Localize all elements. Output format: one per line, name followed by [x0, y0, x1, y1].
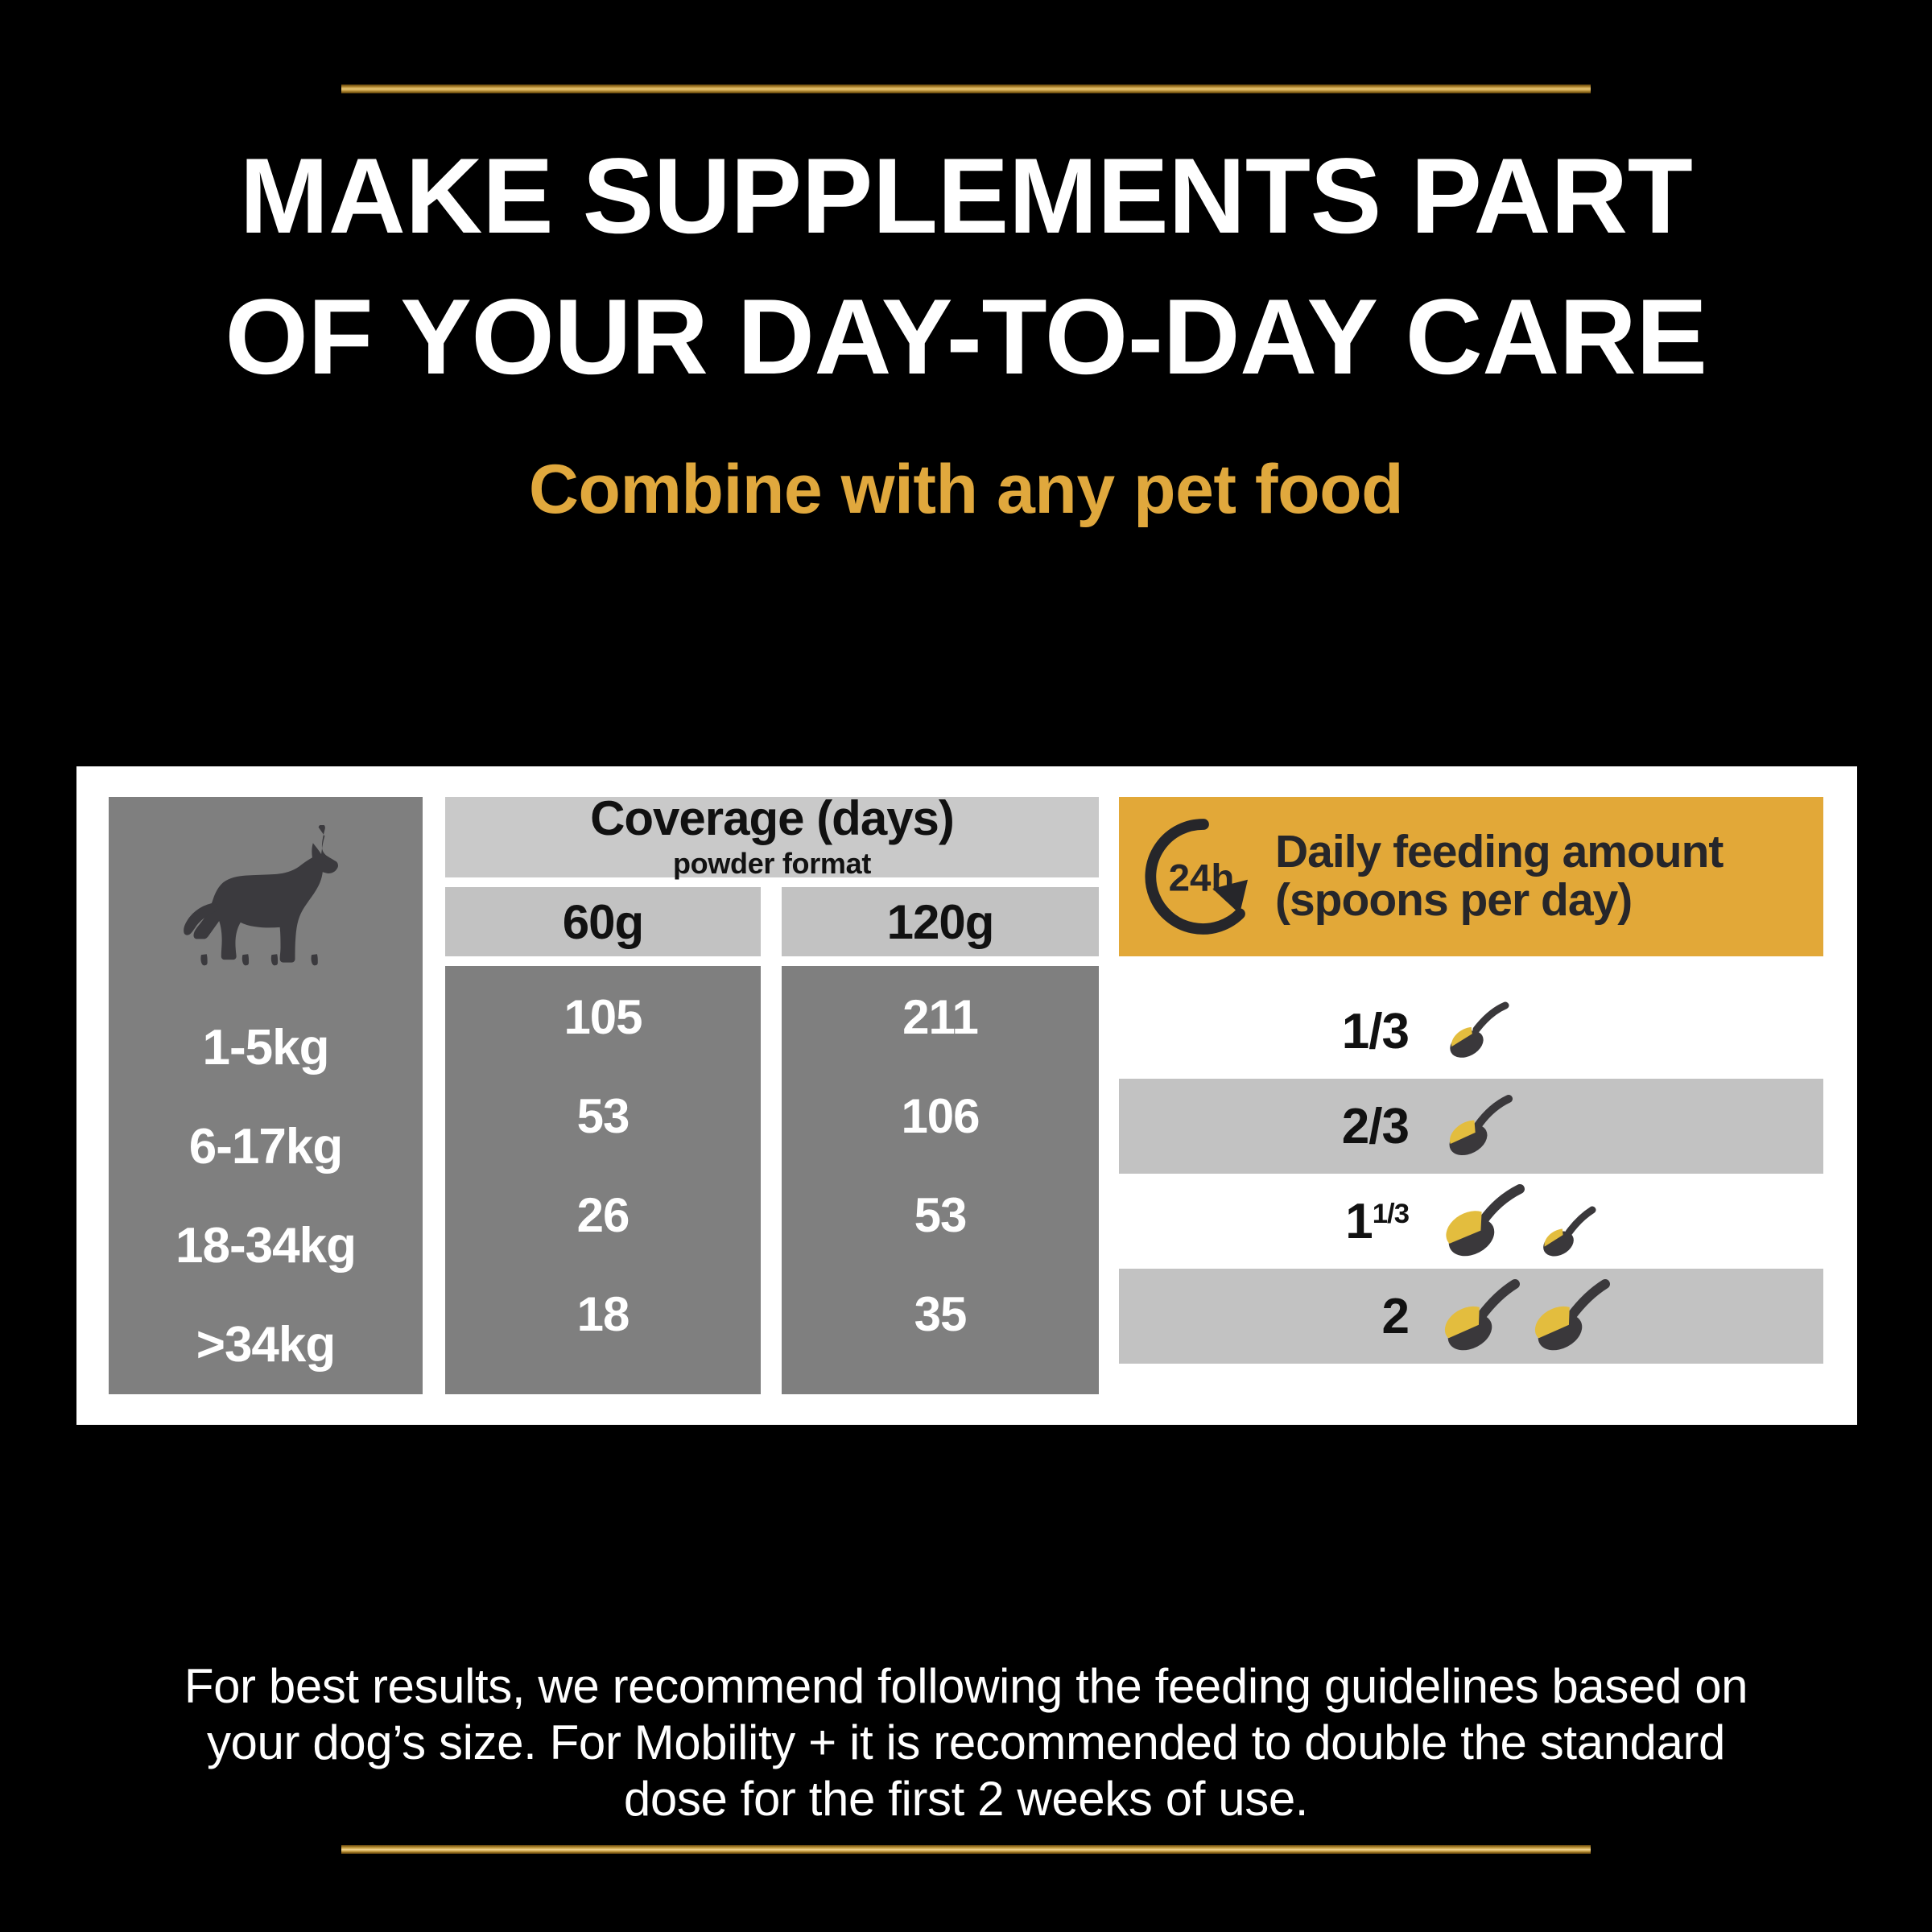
- spoon-icon: [1444, 1183, 1533, 1260]
- dose-fraction: 1/3: [1373, 1198, 1409, 1228]
- spoon-icon: [1444, 1278, 1528, 1355]
- page-title-line-1: MAKE SUPPLEMENTS PART: [240, 137, 1693, 256]
- amount-header-line-1: Daily feeding amount: [1275, 828, 1723, 877]
- spoon-group: [1444, 1278, 1618, 1355]
- 24h-cycle-icon: 24h: [1143, 816, 1264, 937]
- coverage-60g-column: 105 53 26 18: [445, 966, 761, 1394]
- feeding-guide-table: 1-5kg 6-17kg 18-34kg >34kg Coverage (day…: [76, 766, 1857, 1425]
- weight-column: 1-5kg 6-17kg 18-34kg >34kg: [109, 797, 423, 1394]
- svg-text:24h: 24h: [1169, 857, 1235, 900]
- weight-row: 1-5kg: [109, 998, 423, 1097]
- spoon-icon: [1534, 1278, 1618, 1355]
- page-title-line-2: OF YOUR DAY-TO-DAY CARE: [0, 284, 1932, 391]
- daily-feeding-amount-label: Daily feeding amount (spoons per day): [1275, 828, 1723, 925]
- footnote-text: For best results, we recommend following…: [161, 1658, 1771, 1828]
- weight-row: >34kg: [109, 1295, 423, 1394]
- page-title: MAKE SUPPLEMENTS PART OF YOUR DAY-TO-DAY…: [0, 143, 1932, 391]
- coverage-cell: 53: [782, 1166, 1099, 1265]
- dose-row: 2: [1119, 1269, 1823, 1364]
- dose-amount: 2: [1119, 1288, 1409, 1345]
- spoon-icon: [1444, 1001, 1513, 1062]
- amount-header-line-2: (spoons per day): [1275, 877, 1723, 925]
- page-subtitle: Combine with any pet food: [0, 455, 1932, 524]
- coverage-120g-column: 211 106 53 35: [782, 966, 1099, 1394]
- coverage-header: Coverage (days) powder format: [445, 797, 1099, 877]
- dose-rows: 1/3 2/3: [1119, 984, 1823, 1386]
- daily-feeding-amount-header: 24h Daily feeding amount (spoons per day…: [1119, 797, 1823, 956]
- weight-row: 18-34kg: [109, 1196, 423, 1295]
- coverage-cell: 26: [445, 1166, 761, 1265]
- spoon-icon: [1444, 1093, 1518, 1159]
- dog-silhouette-cell: [109, 797, 423, 998]
- dose-whole: 1: [1345, 1194, 1372, 1249]
- dose-row: 2/3: [1119, 1079, 1823, 1174]
- bottom-divider-rule: [341, 1845, 1591, 1854]
- coverage-cell: 106: [782, 1067, 1099, 1166]
- dose-amount: 11/3: [1119, 1193, 1409, 1250]
- coverage-cell: 211: [782, 968, 1099, 1067]
- coverage-cell: 35: [782, 1265, 1099, 1364]
- dose-row: 11/3: [1119, 1174, 1823, 1269]
- dog-silhouette-icon: [175, 825, 357, 970]
- dose-row: 1/3: [1119, 984, 1823, 1079]
- coverage-header-subtitle: powder format: [673, 847, 871, 881]
- spoon-icon: [1539, 1203, 1602, 1260]
- coverage-cell: 18: [445, 1265, 761, 1364]
- weight-rows: 1-5kg 6-17kg 18-34kg >34kg: [109, 998, 423, 1394]
- coverage-cell: 105: [445, 968, 761, 1067]
- column-header-120g: 120g: [782, 887, 1099, 956]
- spoon-group: [1444, 1183, 1602, 1260]
- spoon-group: [1444, 1001, 1513, 1062]
- coverage-cell: 53: [445, 1067, 761, 1166]
- column-header-60g: 60g: [445, 887, 761, 956]
- dose-amount: 1/3: [1119, 1003, 1409, 1060]
- top-divider-rule: [341, 85, 1591, 93]
- dose-amount: 2/3: [1119, 1098, 1409, 1155]
- weight-row: 6-17kg: [109, 1097, 423, 1196]
- coverage-header-title: Coverage (days): [590, 794, 954, 843]
- spoon-group: [1444, 1093, 1518, 1159]
